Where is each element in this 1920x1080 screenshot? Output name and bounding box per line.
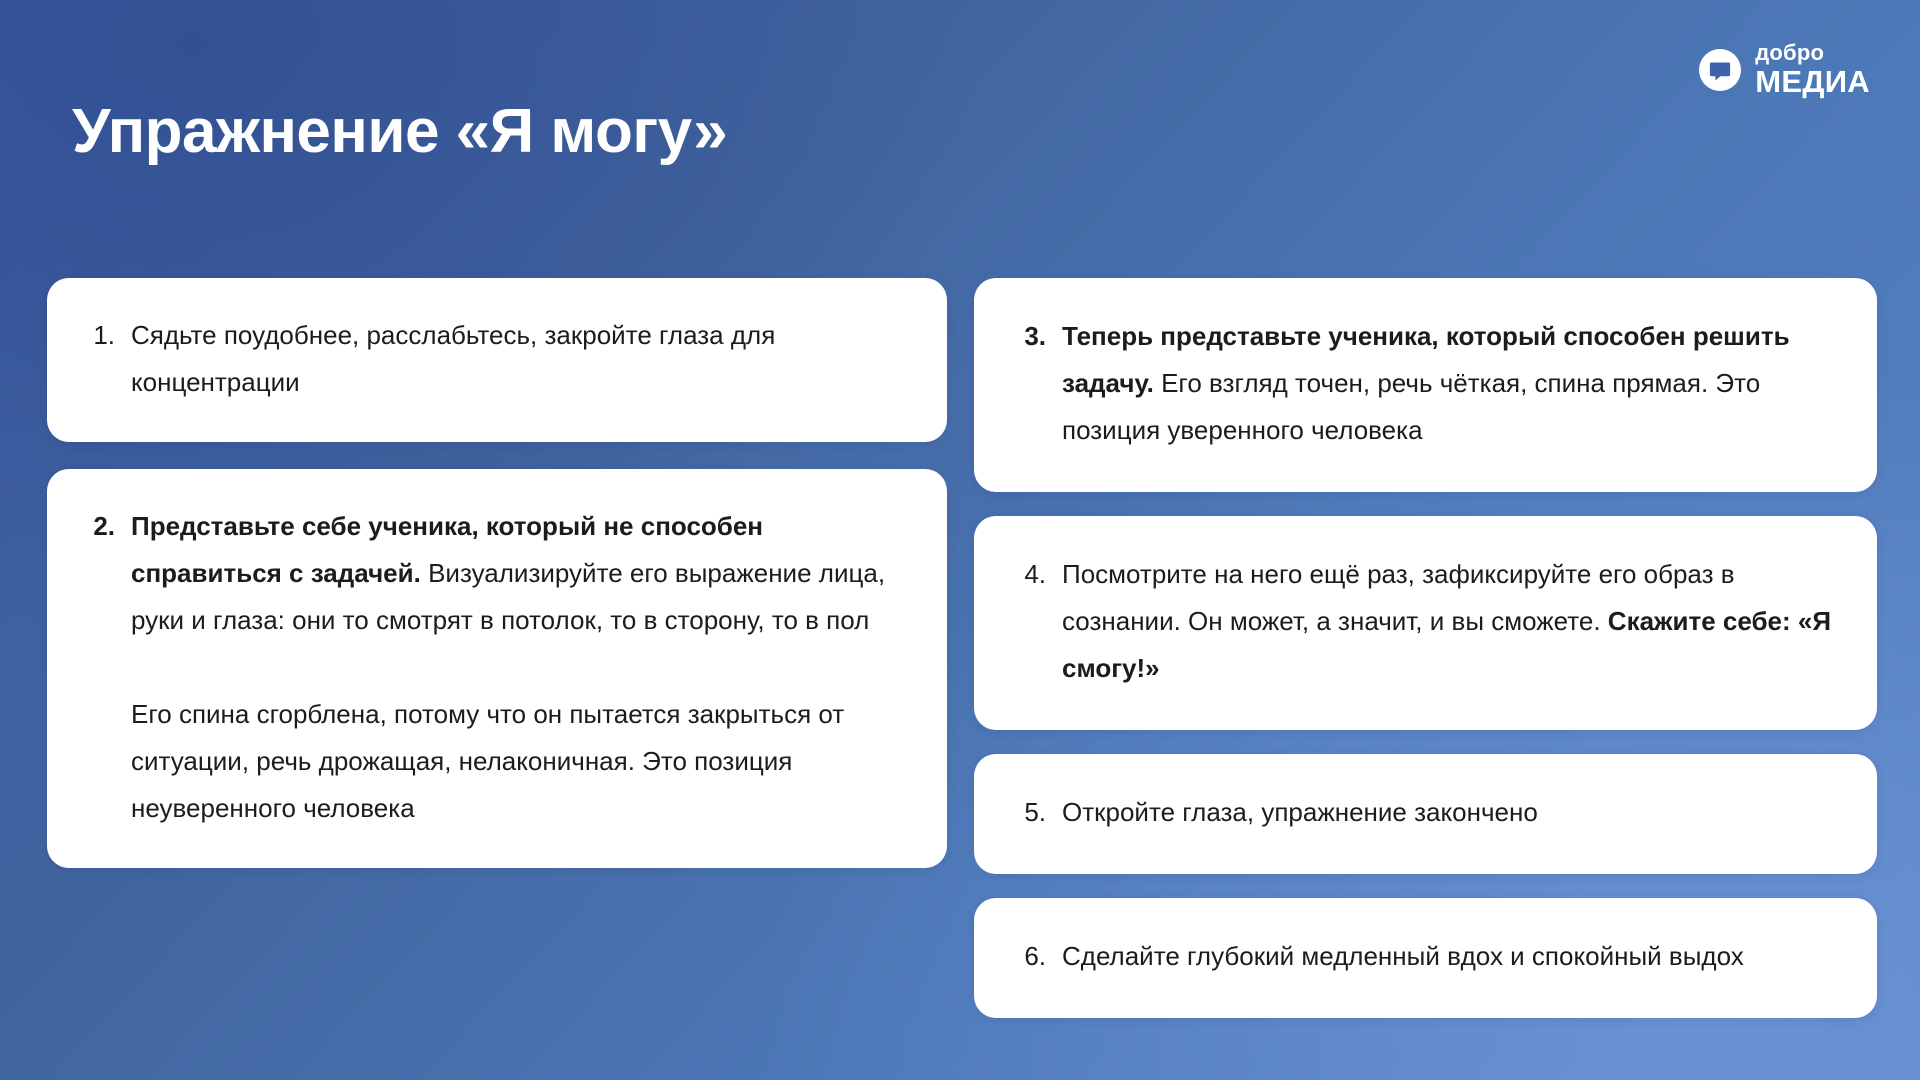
steps-column-right: 3. Теперь представьте ученика, который с… — [974, 278, 1877, 1018]
step-number: 4. — [1018, 551, 1046, 598]
step-card-3: 3. Теперь представьте ученика, который с… — [974, 278, 1877, 492]
step-text-run: Откройте глаза, упражнение закончено — [1062, 797, 1538, 827]
step-card-6: 6. Сделайте глубокий медленный вдох и сп… — [974, 898, 1877, 1018]
steps-column-left: 1. Сядьте поудобнее, расслабьтесь, закро… — [47, 278, 947, 868]
steps-columns: 1. Сядьте поудобнее, расслабьтесь, закро… — [47, 278, 1877, 1018]
list-item: 1. Сядьте поудобнее, расслабьтесь, закро… — [87, 312, 907, 406]
step-text: Сделайте глубокий медленный вдох и споко… — [1062, 933, 1833, 980]
list-item: 3. Теперь представьте ученика, который с… — [1018, 313, 1833, 454]
step-card-2: 2. Представьте себе ученика, который не … — [47, 469, 947, 868]
step-text-run: Сядьте поудобнее, расслабьтесь, закройте… — [131, 320, 775, 397]
logo-line-media: МЕДИА — [1755, 66, 1870, 97]
step-text: Сядьте поудобнее, расслабьтесь, закройте… — [131, 312, 907, 406]
step-text-run: Сделайте глубокий медленный вдох и споко… — [1062, 941, 1744, 971]
step-text: Теперь представьте ученика, который спос… — [1062, 313, 1833, 454]
step-number: 1. — [87, 312, 115, 359]
list-item: 6. Сделайте глубокий медленный вдох и сп… — [1018, 933, 1833, 980]
step-number: 5. — [1018, 789, 1046, 836]
step-number: 3. — [1018, 313, 1046, 360]
step-text: Представьте себе ученика, который не спо… — [131, 503, 907, 832]
step-text: Откройте глаза, упражнение закончено — [1062, 789, 1833, 836]
page-title: Упражнение «Я могу» — [72, 96, 727, 167]
list-item: 5. Откройте глаза, упражнение закончено — [1018, 789, 1833, 836]
slide-root: добро МЕДИА Упражнение «Я могу» 1. Сядьт… — [0, 0, 1920, 1080]
logo-wordmark: добро МЕДИА — [1755, 42, 1870, 97]
list-item: 2. Представьте себе ученика, который не … — [87, 503, 907, 832]
paragraph-spacer — [131, 644, 907, 691]
step-number: 2. — [87, 503, 115, 550]
step-number: 6. — [1018, 933, 1046, 980]
step-text: Посмотрите на него ещё раз, зафиксируйте… — [1062, 551, 1833, 692]
step-card-4: 4. Посмотрите на него ещё раз, зафиксиру… — [974, 516, 1877, 730]
speech-bubble-icon — [1698, 48, 1742, 92]
list-item: 4. Посмотрите на него ещё раз, зафиксиру… — [1018, 551, 1833, 692]
step-text-run: Его взгляд точен, речь чёткая, спина пря… — [1062, 368, 1760, 445]
step-card-5: 5. Откройте глаза, упражнение закончено — [974, 754, 1877, 874]
logo-line-dobro: добро — [1755, 42, 1870, 64]
brand-logo: добро МЕДИА — [1698, 42, 1870, 97]
step-text-run: Его спина сгорблена, потому что он пытае… — [131, 699, 844, 823]
step-card-1: 1. Сядьте поудобнее, расслабьтесь, закро… — [47, 278, 947, 442]
